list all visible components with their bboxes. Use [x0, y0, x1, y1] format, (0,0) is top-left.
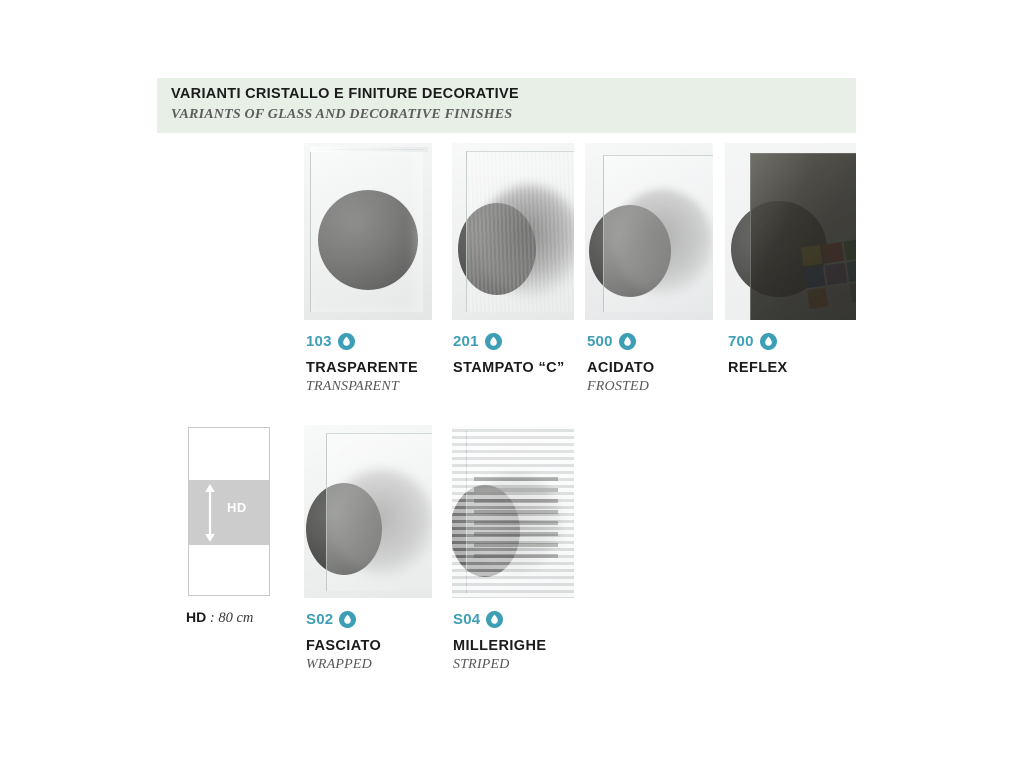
glass-pane	[310, 149, 423, 312]
hd-band-label: HD	[227, 500, 247, 515]
swatch-name-english: WRAPPED	[306, 657, 381, 673]
swatch-image-S02[interactable]	[304, 425, 432, 598]
hd-caption-separator: :	[206, 610, 218, 626]
swatch-code-row: 700	[728, 332, 788, 350]
swatch-name-english: FROSTED	[587, 379, 655, 395]
swatch-image-103[interactable]	[304, 143, 432, 320]
pane-top-edge-highlight	[310, 147, 428, 152]
swatch-code-row: 103	[306, 332, 418, 350]
swatch-scene-transparent	[304, 143, 432, 320]
swatch-code-row: S02	[306, 610, 381, 628]
swatch-caption-201: 201 STAMPATO “C”	[453, 332, 565, 376]
swatch-name-italian: FASCIATO	[306, 638, 381, 654]
swatch-code: 103	[306, 333, 332, 350]
swatch-code-row: 500	[587, 332, 655, 350]
swatch-code: 500	[587, 333, 613, 350]
droplet-icon	[486, 611, 503, 628]
glass-pane	[603, 155, 713, 312]
swatch-name-english: STRIPED	[453, 657, 546, 673]
section-title-italian: VARIANTI CRISTALLO E FINITURE DECORATIVE	[171, 86, 519, 102]
swatch-caption-500: 500 ACIDATO FROSTED	[587, 332, 655, 395]
swatch-image-201[interactable]	[452, 143, 574, 320]
swatch-code: S02	[306, 611, 333, 628]
swatch-code: 201	[453, 333, 479, 350]
swatch-image-700[interactable]	[725, 143, 856, 320]
swatch-caption-700: 700 REFLEX	[728, 332, 788, 376]
hd-caption-value: 80 cm	[218, 610, 253, 626]
hd-caption-key: HD	[186, 609, 206, 625]
swatch-name-italian: STAMPATO “C”	[453, 360, 565, 376]
swatch-name-italian: ACIDATO	[587, 360, 655, 376]
swatch-scene-millerighe	[452, 425, 574, 598]
hd-arrow-icon	[203, 484, 217, 542]
swatch-name-italian: TRASPARENTE	[306, 360, 418, 376]
swatch-image-S04[interactable]	[452, 425, 574, 598]
droplet-icon	[760, 333, 777, 350]
glass-pane	[326, 433, 432, 591]
striped-shadow-overlay	[474, 477, 558, 565]
swatch-caption-S02: S02 FASCIATO WRAPPED	[306, 610, 381, 673]
swatch-code-row: 201	[453, 332, 565, 350]
swatch-code-row: S04	[453, 610, 546, 628]
swatch-caption-S04: S04 MILLERIGHE STRIPED	[453, 610, 546, 673]
swatch-code: 700	[728, 333, 754, 350]
swatch-name-italian: MILLERIGHE	[453, 638, 546, 654]
swatch-scene-reflex	[725, 143, 856, 320]
section-title-english: VARIANTS OF GLASS AND DECORATIVE FINISHE…	[171, 107, 512, 123]
pane-texture-overlay	[466, 151, 574, 311]
swatch-scene-fasciato	[304, 425, 432, 598]
hd-caption: HD : 80 cm	[186, 609, 253, 627]
section-header-band: VARIANTI CRISTALLO E FINITURE DECORATIVE…	[157, 78, 856, 133]
hd-dimension-diagram: HD	[188, 427, 270, 596]
swatch-name-english: TRANSPARENT	[306, 379, 418, 395]
swatch-code: S04	[453, 611, 480, 628]
swatch-scene-acidato	[585, 143, 713, 320]
droplet-icon	[339, 611, 356, 628]
swatch-caption-103: 103 TRASPARENTE TRANSPARENT	[306, 332, 418, 395]
swatch-image-500[interactable]	[585, 143, 713, 320]
droplet-icon	[338, 333, 355, 350]
catalog-page: VARIANTI CRISTALLO E FINITURE DECORATIVE…	[0, 0, 1024, 768]
pane-specular-highlight	[750, 153, 856, 320]
swatch-name-italian: REFLEX	[728, 360, 788, 376]
droplet-icon	[619, 333, 636, 350]
swatch-scene-stampato-c	[452, 143, 574, 320]
droplet-icon	[485, 333, 502, 350]
